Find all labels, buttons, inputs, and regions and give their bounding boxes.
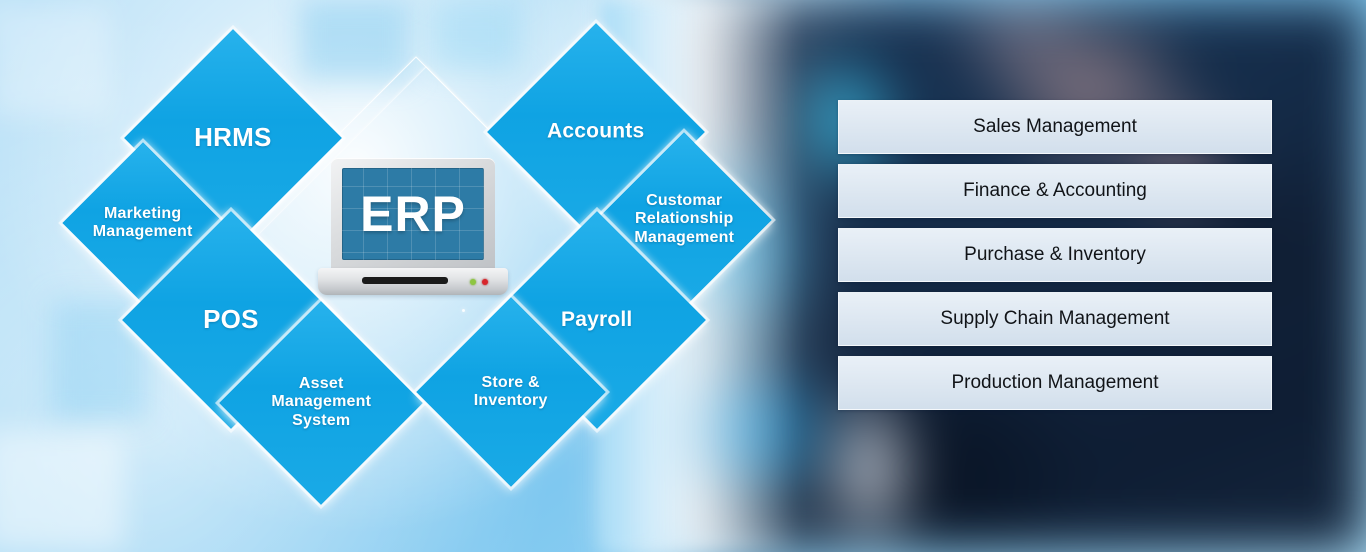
background-square-decoration	[0, 430, 124, 550]
laptop-base	[318, 268, 508, 295]
diamond-label-crm: Customar Relationship Management	[634, 192, 734, 247]
module-list-item-label: Purchase & Inventory	[964, 244, 1146, 266]
background-square-decoration	[300, 0, 410, 80]
laptop-screen: ERP	[342, 168, 484, 260]
background-square-decoration	[430, 0, 520, 70]
erp-screen-label: ERP	[342, 168, 484, 260]
module-list-item[interactable]: Sales Management	[838, 100, 1272, 154]
module-list: Sales ManagementFinance & AccountingPurc…	[838, 100, 1272, 410]
power-led-green-icon	[470, 279, 476, 285]
module-list-item[interactable]: Purchase & Inventory	[838, 228, 1272, 282]
laptop-touchpad	[362, 277, 448, 284]
diamond-label-marketing: Marketing Management	[93, 205, 193, 242]
module-list-item-label: Sales Management	[973, 116, 1137, 138]
diamond-label-pos: POS	[203, 305, 259, 335]
background-square-decoration	[0, 6, 110, 116]
diamond-label-store: Store & Inventory	[474, 374, 548, 411]
module-list-item-label: Production Management	[951, 372, 1158, 394]
module-list-item[interactable]: Production Management	[838, 356, 1272, 410]
erp-banner: HRMSMarketing ManagementPOSAsset Managem…	[0, 0, 1366, 552]
sparkle-decoration	[462, 309, 465, 312]
module-list-item-label: Finance & Accounting	[963, 180, 1147, 202]
laptop-lid: ERP	[331, 158, 495, 271]
status-led-red-icon	[482, 279, 488, 285]
module-list-item-label: Supply Chain Management	[940, 308, 1169, 330]
diamond-label-accounts: Accounts	[547, 120, 644, 144]
diamond-label-hrms: HRMS	[194, 123, 271, 153]
module-list-item[interactable]: Finance & Accounting	[838, 164, 1272, 218]
erp-laptop-illustration: ERP	[318, 158, 508, 298]
diamond-label-asset: Asset Management System	[271, 375, 371, 430]
diamond-label-payroll: Payroll	[561, 308, 632, 332]
module-list-item[interactable]: Supply Chain Management	[838, 292, 1272, 346]
